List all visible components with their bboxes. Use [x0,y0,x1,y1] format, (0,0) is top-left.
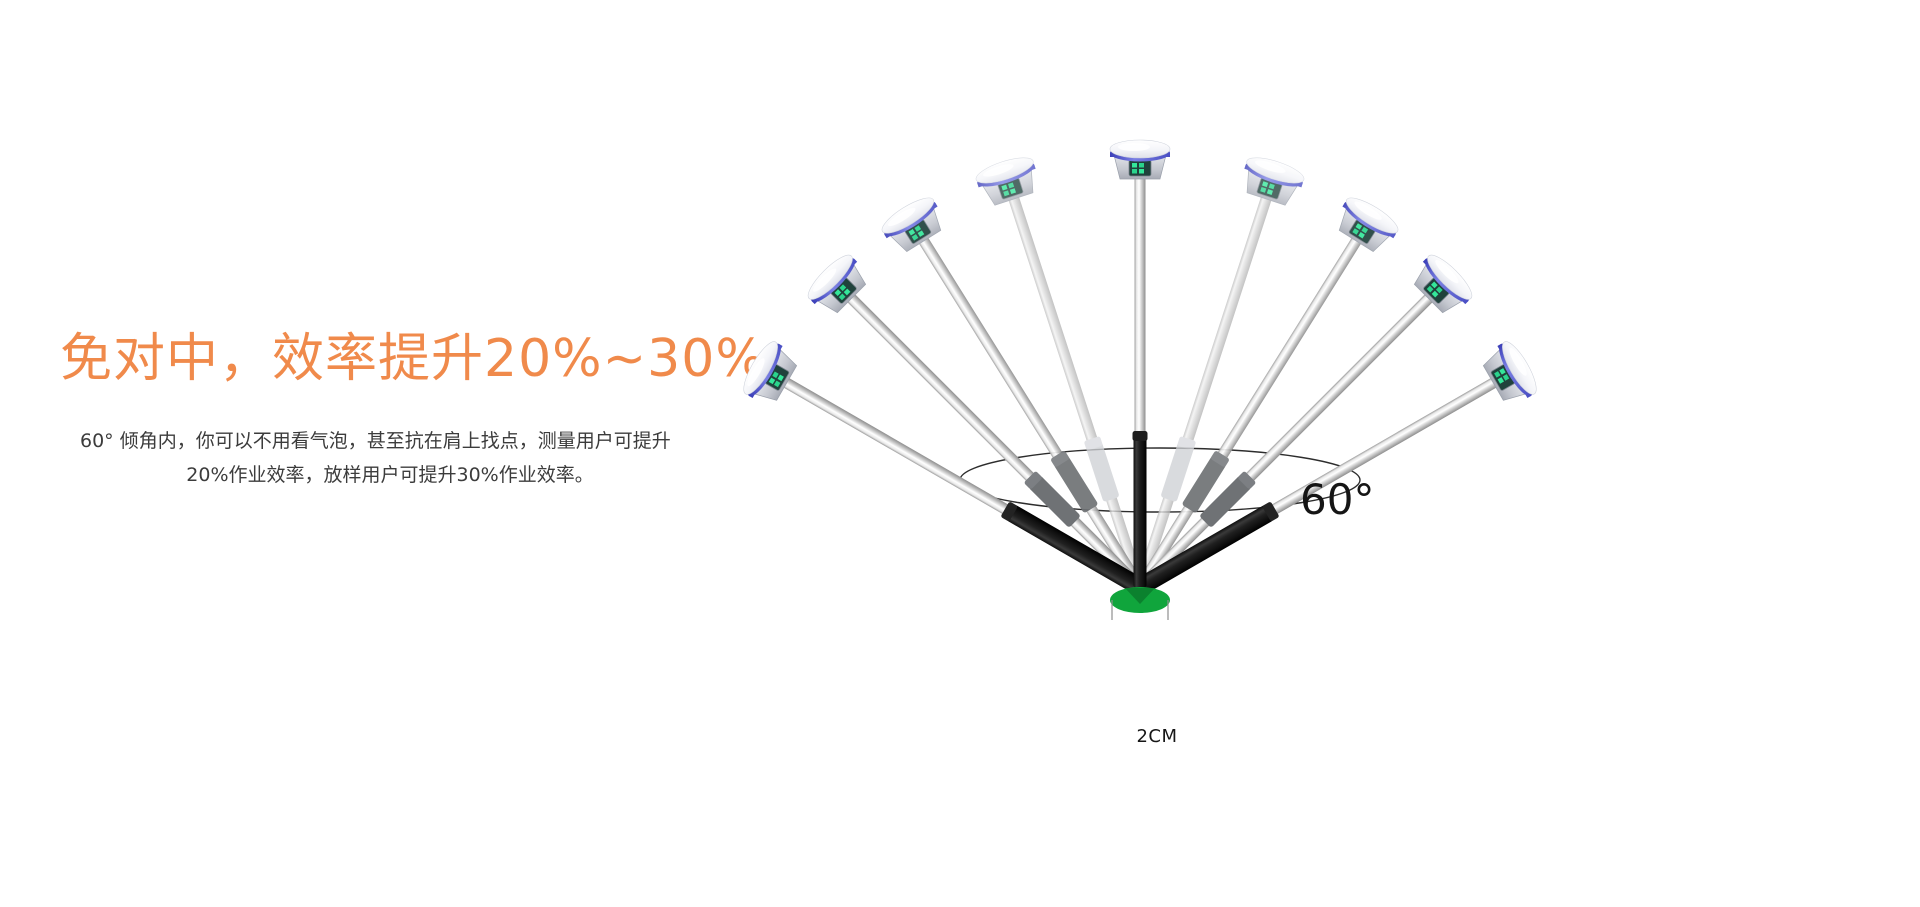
pole-fan-illustration [700,0,1920,907]
pole-group [738,140,1542,621]
marketing-text-block: 免对中，效率提升20%~30% 60° 倾角内，你可以不用看气泡，甚至抗在肩上找… [60,330,720,492]
description-line-2: 20%作业效率，放样用户可提升30%作业效率。 [68,458,712,492]
description-paragraph: 60° 倾角内，你可以不用看气泡，甚至抗在肩上找点，测量用户可提升 20%作业效… [60,424,720,492]
description-line-1: 60° 倾角内，你可以不用看气泡，甚至抗在肩上找点，测量用户可提升 [68,424,712,458]
tilt-survey-diagram: 60° 2CM [700,0,1920,907]
page-title: 免对中，效率提升20%~30% [60,330,720,390]
accuracy-marker [1110,587,1170,620]
accuracy-label: 2CM [1112,726,1202,747]
cone-angle-label: 60° [1300,475,1374,524]
page-root: 免对中，效率提升20%~30% 60° 倾角内，你可以不用看气泡，甚至抗在肩上找… [0,0,1920,907]
